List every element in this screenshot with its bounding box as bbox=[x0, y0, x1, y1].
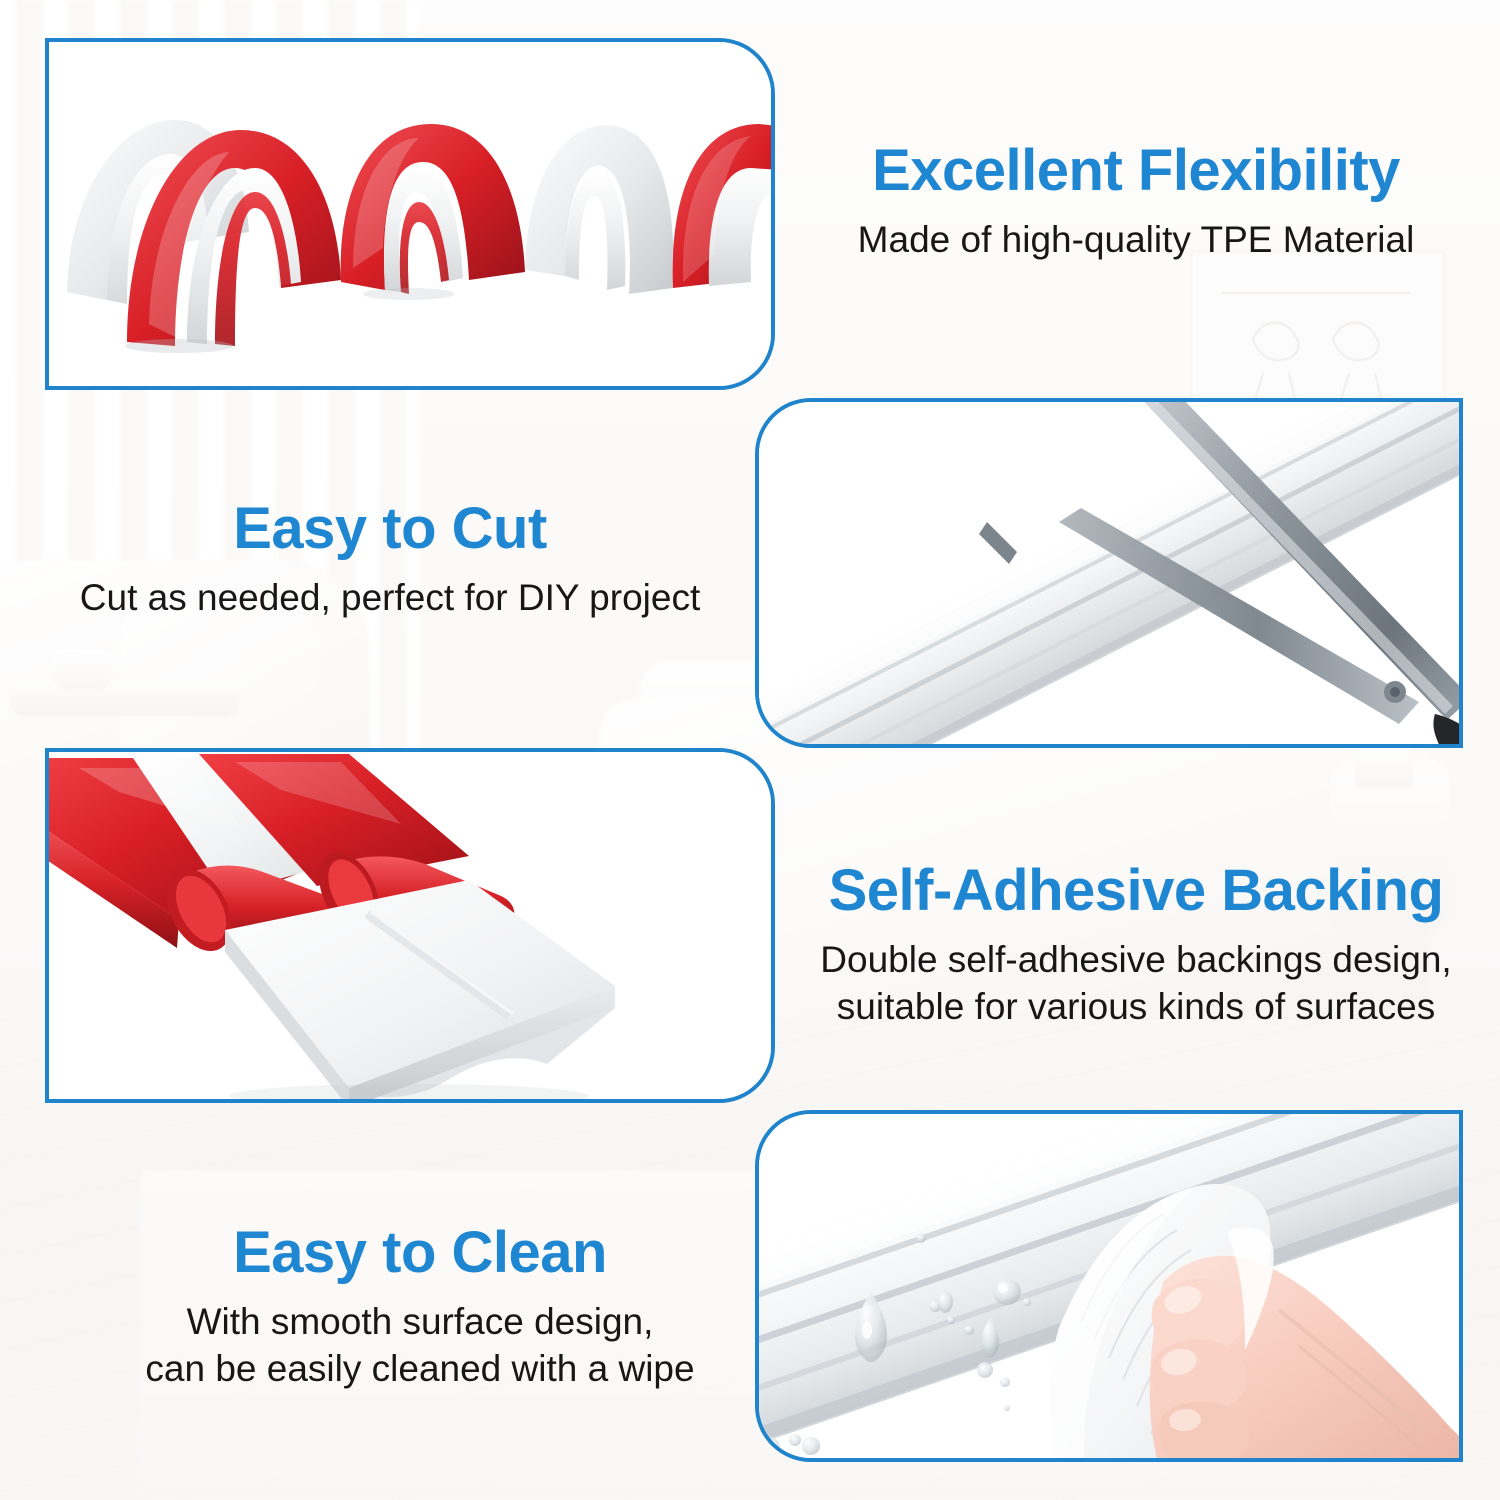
scissors-cutting-strip-photo bbox=[759, 402, 1459, 744]
feature-description-cut: Cut as needed, perfect for DIY project bbox=[40, 575, 740, 622]
feature-description-adhesive: Double self-adhesive backings design, su… bbox=[786, 937, 1486, 1030]
hand-wiping-strip-photo bbox=[759, 1114, 1459, 1458]
feature-description-flexibility: Made of high-quality TPE Material bbox=[786, 217, 1486, 264]
feature-image-panel-clean bbox=[755, 1110, 1463, 1462]
feature-text-cut: Easy to Cut Cut as needed, perfect for D… bbox=[40, 498, 740, 622]
feature-description-line: can be easily cleaned with a wipe bbox=[80, 1346, 760, 1393]
feature-description-clean: With smooth surface design, can be easil… bbox=[80, 1299, 760, 1392]
feature-description-line: Made of high-quality TPE Material bbox=[786, 217, 1486, 264]
infographic-canvas: Excellent Flexibility Made of high-quali… bbox=[0, 0, 1500, 1500]
feature-image-panel-adhesive bbox=[45, 748, 775, 1103]
feature-description-line: With smooth surface design, bbox=[80, 1299, 760, 1346]
red-white-spiral-tpe-strip-photo bbox=[49, 42, 771, 386]
feature-text-clean: Easy to Clean With smooth surface design… bbox=[80, 1222, 760, 1393]
feature-description-line: Cut as needed, perfect for DIY project bbox=[40, 575, 740, 622]
feature-image-panel-flexibility bbox=[45, 38, 775, 390]
feature-heading-clean: Easy to Clean bbox=[80, 1222, 760, 1283]
feature-heading-flexibility: Excellent Flexibility bbox=[786, 140, 1486, 201]
feature-heading-cut: Easy to Cut bbox=[40, 498, 740, 559]
red-strip-adhesive-backing-photo bbox=[49, 752, 771, 1099]
feature-text-adhesive: Self-Adhesive Backing Double self-adhesi… bbox=[786, 860, 1486, 1031]
feature-heading-adhesive: Self-Adhesive Backing bbox=[786, 860, 1486, 921]
feature-description-line: Double self-adhesive backings design, bbox=[786, 937, 1486, 984]
feature-image-panel-cut bbox=[755, 398, 1463, 748]
feature-description-line: suitable for various kinds of surfaces bbox=[786, 984, 1486, 1031]
feature-text-flexibility: Excellent Flexibility Made of high-quali… bbox=[786, 140, 1486, 264]
